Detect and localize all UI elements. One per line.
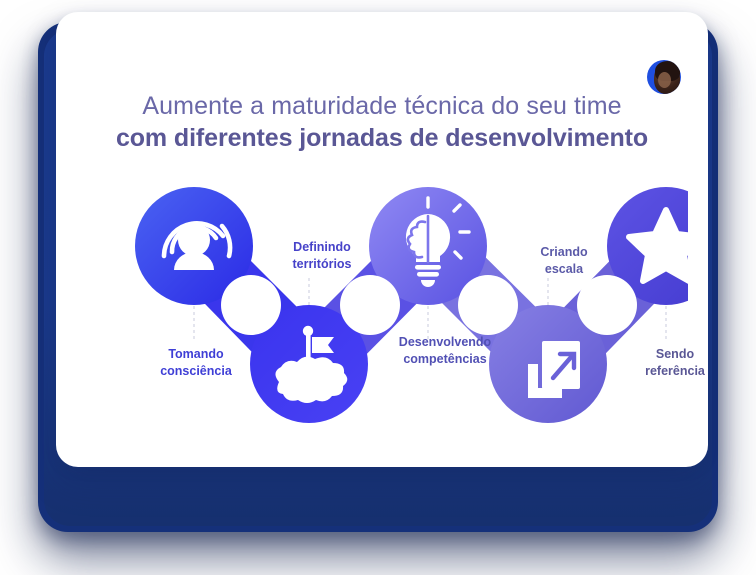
page-title-line1: Aumente a maturidade técnica do seu time xyxy=(56,90,708,122)
step-label-3-line1: Desenvolvendo xyxy=(399,335,491,349)
step-label-1-line2: consciência xyxy=(160,364,232,378)
step-label-5-line1: Sendo xyxy=(656,347,694,361)
avatar-cheek xyxy=(658,72,671,88)
step-label-1: Tomando consciência xyxy=(136,346,256,379)
step-label-2-line2: territórios xyxy=(292,257,351,271)
step-label-2-line1: Definindo xyxy=(293,240,351,254)
step-label-5-line2: referência xyxy=(645,364,705,378)
step-label-3: Desenvolvendo competências xyxy=(372,334,518,367)
step-label-2: Definindo territórios xyxy=(263,239,381,272)
journey-diagram: Tomando consciência Definindo território… xyxy=(76,174,688,444)
step-label-5: Sendo referência xyxy=(616,346,708,379)
step-label-4: Criando escala xyxy=(509,244,619,277)
step-label-4-line1: Criando xyxy=(540,245,587,259)
content-card: Aumente a maturidade técnica do seu time… xyxy=(56,12,708,467)
screenshot-stage: Aumente a maturidade técnica do seu time… xyxy=(0,0,756,575)
step-label-4-line2: escala xyxy=(545,262,583,276)
page-title: Aumente a maturidade técnica do seu time… xyxy=(56,90,708,154)
step-label-1-line1: Tomando xyxy=(168,347,223,361)
page-title-line2: com diferentes jornadas de desenvolvimen… xyxy=(56,122,708,154)
journey-blob-svg xyxy=(76,174,688,444)
step-label-3-line2: competências xyxy=(403,352,486,366)
user-avatar[interactable] xyxy=(647,60,681,94)
